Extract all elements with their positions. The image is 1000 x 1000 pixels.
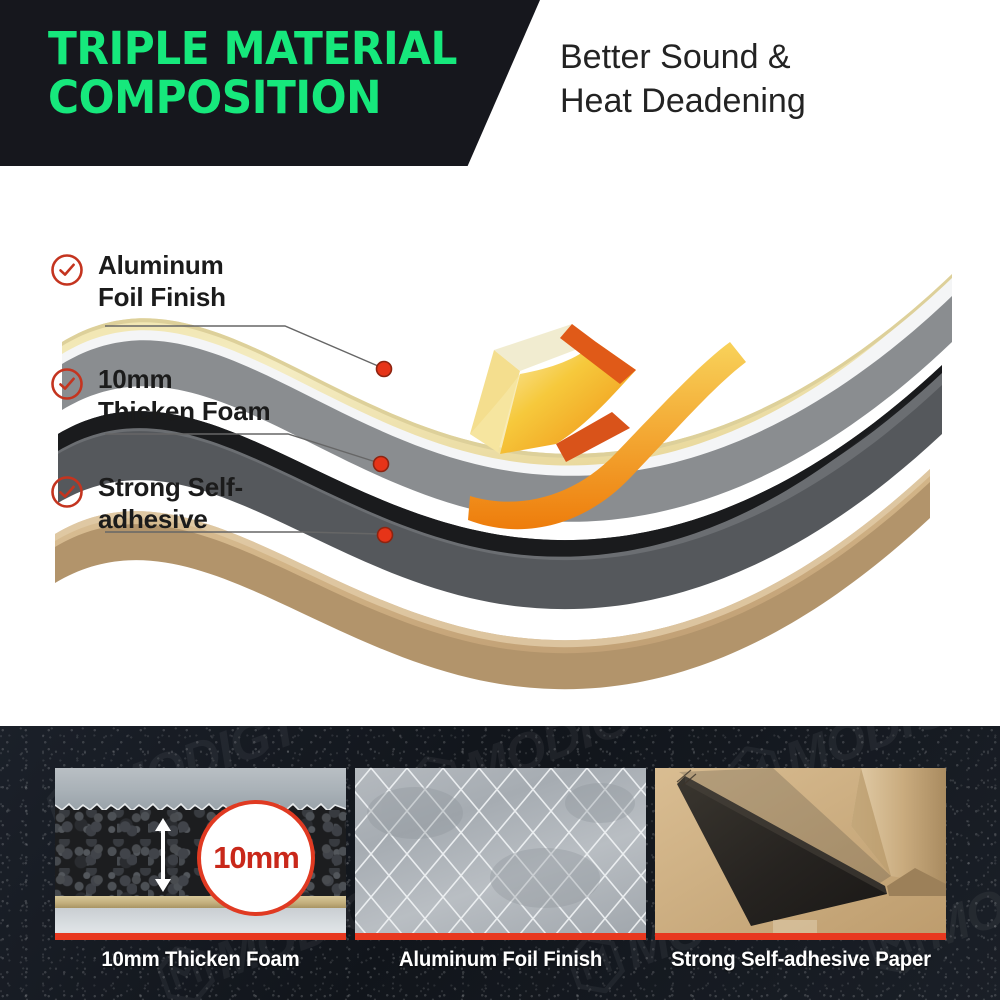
feature-label: 10mm Thicken Foam [98,364,270,427]
feature-label-line1: 10mm [98,364,172,394]
page-title-line1: TRIPLE MATERIAL [48,22,457,75]
gallery-panels: 10mm [0,726,1000,1000]
header-subtitle-line2: Heat Deadening [560,80,980,124]
thickness-badge-label: 10mm [213,840,299,876]
header-subtitle: Better Sound & Heat Deadening [560,36,980,123]
feature-list: Aluminum Foil Finish 10mm Thicken Foam [0,166,400,726]
check-circle-icon [50,475,84,509]
check-circle-icon [50,253,84,287]
panel-accent-bar [55,933,346,940]
feature-item-thicken-foam: 10mm Thicken Foam [50,364,270,427]
gallery-section: MODIGT®MODIGT®MODIGT®MODIGT®MODIGT®MODIG… [0,726,1000,1000]
thickness-arrow-icon [150,816,176,894]
foam-adhesive-strip [55,896,346,908]
foil-surface [355,768,646,940]
feature-label-line1: Strong Self- [98,472,243,502]
page-title: TRIPLE MATERIAL COMPOSITION [48,26,490,120]
gallery-caption-foil: Aluminum Foil Finish [359,948,641,972]
feature-label: Strong Self- adhesive [98,472,243,535]
gallery-image-foil[interactable] [355,768,646,940]
header-subtitle-line1: Better Sound & [560,38,791,76]
feature-label-line2: Foil Finish [98,282,226,314]
gallery-caption-adhesive: Strong Self-adhesive Paper [651,948,952,972]
feature-label-line2: Thicken Foam [98,396,270,428]
check-circle-icon [50,367,84,401]
kraft-paper-surface [655,768,946,940]
infographic-page: MODIGT®MODIGT®MODIGT®MODIGT®MODIGT®MODIG… [0,0,1000,1000]
illustration-section: Aluminum Foil Finish 10mm Thicken Foam [0,166,1000,726]
gallery-image-foam[interactable]: 10mm [55,768,346,940]
thickness-badge: 10mm [197,800,315,916]
feature-item-self-adhesive: Strong Self- adhesive [50,472,243,535]
page-title-line2: COMPOSITION [48,75,490,120]
foil-diamond-pattern [355,768,646,940]
feature-item-aluminum-foil: Aluminum Foil Finish [50,250,226,313]
panel-accent-bar [355,933,646,940]
panel-accent-bar [655,933,946,940]
peeling-adhesive-paper [655,768,946,940]
feature-label-line1: Aluminum [98,250,224,280]
gallery-caption-foam: 10mm Thicken Foam [59,948,341,972]
feature-label: Aluminum Foil Finish [98,250,226,313]
gallery-image-adhesive[interactable] [655,768,946,940]
feature-label-line2: adhesive [98,504,243,536]
header: TRIPLE MATERIAL COMPOSITION Better Sound… [0,0,1000,166]
